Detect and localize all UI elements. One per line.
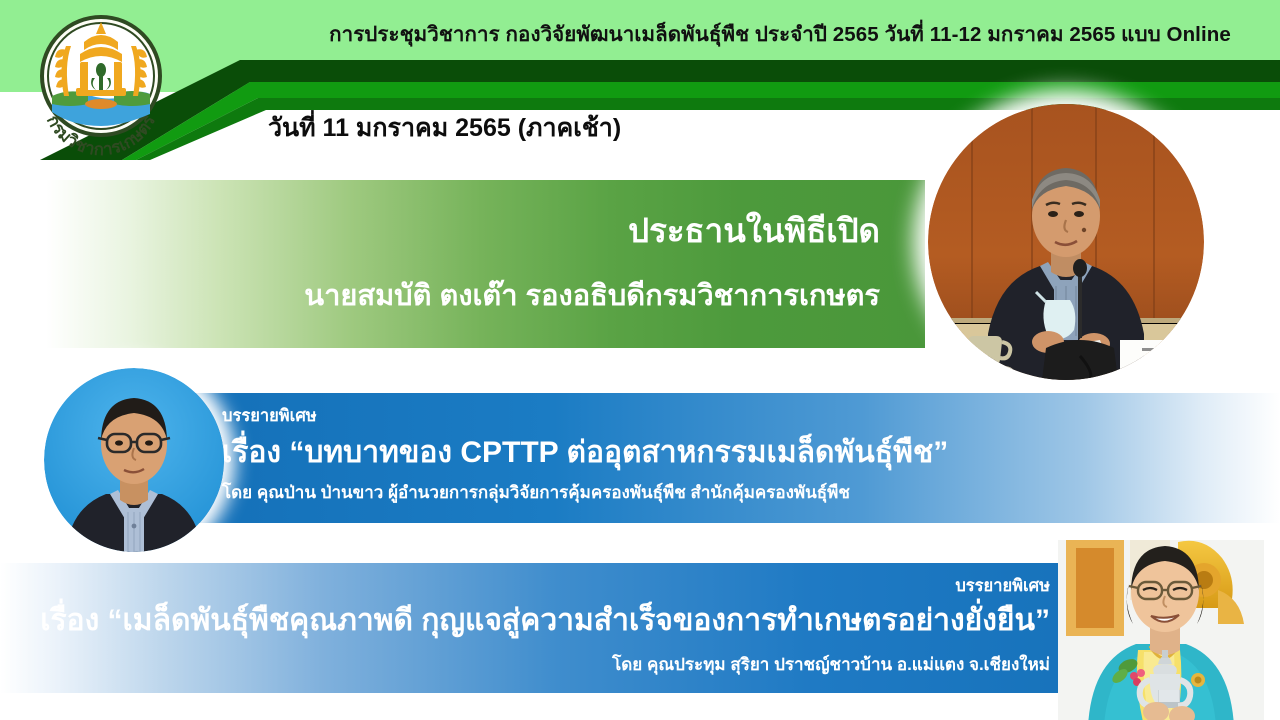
session-2-title: เรื่อง “เมล็ดพันธุ์พืชคุณภาพดี กุญแจสู่ค…: [40, 597, 1050, 644]
chair-name-label: นายสมบัติ ตงเต๊า รองอธิบดีกรมวิชาการเกษต…: [304, 272, 880, 318]
session-2-speaker: โดย คุณประทุม สุริยา ปราชญ์ชาวบ้าน อ.แม่…: [612, 651, 1050, 678]
chair-role-label: ประธานในพิธีเปิด: [628, 204, 880, 257]
session-1-banner: บรรยายพิเศษ เรื่อง “บทบาทของ CPTTP ต่ออุ…: [180, 393, 1280, 523]
date-line: วันที่ 11 มกราคม 2565 (ภาคเช้า): [268, 108, 621, 148]
session-2-banner: บรรยายพิเศษ เรื่อง “เมล็ดพันธุ์พืชคุณภาพ…: [0, 563, 1160, 693]
chair-portrait-photo: [928, 104, 1204, 380]
session-1-speaker: โดย คุณป่าน ป่านขาว ผู้อำนวยการกลุ่มวิจั…: [222, 479, 850, 506]
session-2-speaker-photo: [1058, 540, 1264, 720]
slide-root: การประชุมวิชาการ กองวิจัยพัฒนาเมล็ดพันธุ…: [0, 0, 1280, 720]
session-1-title: เรื่อง “บทบาทของ CPTTP ต่ออุตสาหกรรมเมล็…: [222, 429, 948, 476]
chair-banner: ประธานในพิธีเปิด นายสมบัติ ตงเต๊า รองอธิ…: [0, 180, 925, 348]
session-1-speaker-photo: [44, 368, 224, 552]
session-2-kicker: บรรยายพิเศษ: [955, 573, 1050, 599]
session-1-kicker: บรรยายพิเศษ: [222, 403, 317, 429]
header-title: การประชุมวิชาการ กองวิจัยพัฒนาเมล็ดพันธุ…: [300, 18, 1260, 51]
department-of-agriculture-logo-icon: กรมวิชาการเกษตร: [22, 4, 180, 162]
